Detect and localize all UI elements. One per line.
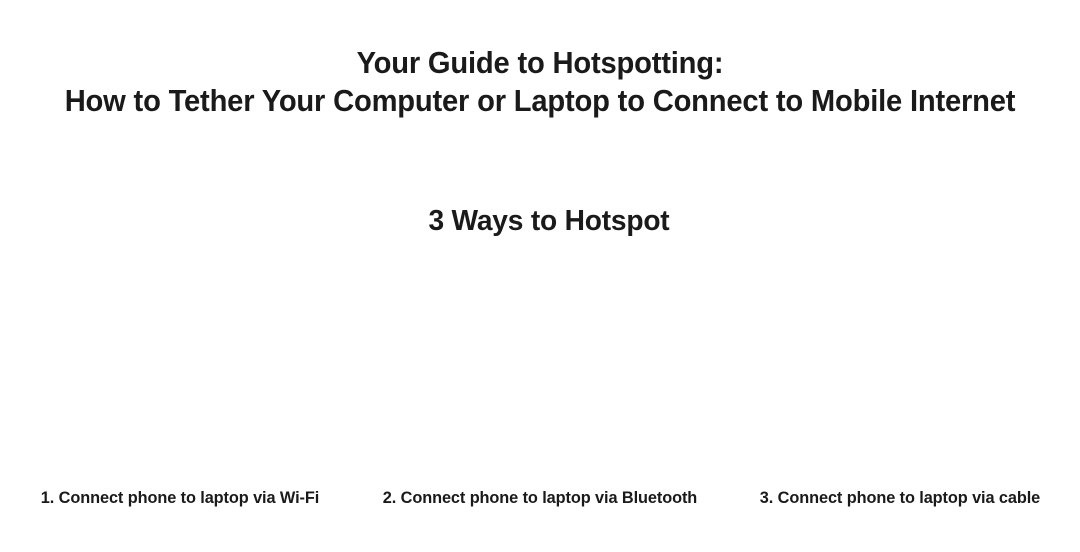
step-caption-3: 3. Connect phone to laptop via cable: [727, 487, 1073, 508]
infographic-page: Your Guide to Hotspotting: How to Tether…: [0, 0, 1080, 552]
step-illustration-wifi: [0, 285, 360, 481]
title-line-2: How to Tether Your Computer or Laptop to…: [32, 82, 1047, 120]
step-item-2: 2. Connect phone to laptop via Bluetooth: [360, 285, 720, 508]
section-heading: 3 Ways to Hotspot: [411, 204, 669, 238]
step-illustration-cable: [720, 285, 1080, 481]
step-item-1: 1. Connect phone to laptop via Wi-Fi: [0, 285, 360, 508]
steps-row: 1. Connect phone to laptop via Wi-Fi 2. …: [0, 248, 1080, 552]
step-item-3: 3. Connect phone to laptop via cable: [720, 285, 1080, 508]
title-line-1: Your Guide to Hotspotting:: [32, 44, 1047, 82]
step-caption-1: 1. Connect phone to laptop via Wi-Fi: [7, 487, 353, 508]
step-illustration-bluetooth: [360, 285, 720, 481]
section-heading-container: 3 Ways to Hotspot: [0, 204, 1080, 238]
step-caption-2: 2. Connect phone to laptop via Bluetooth: [367, 487, 713, 508]
page-title: Your Guide to Hotspotting: How to Tether…: [0, 0, 1080, 120]
